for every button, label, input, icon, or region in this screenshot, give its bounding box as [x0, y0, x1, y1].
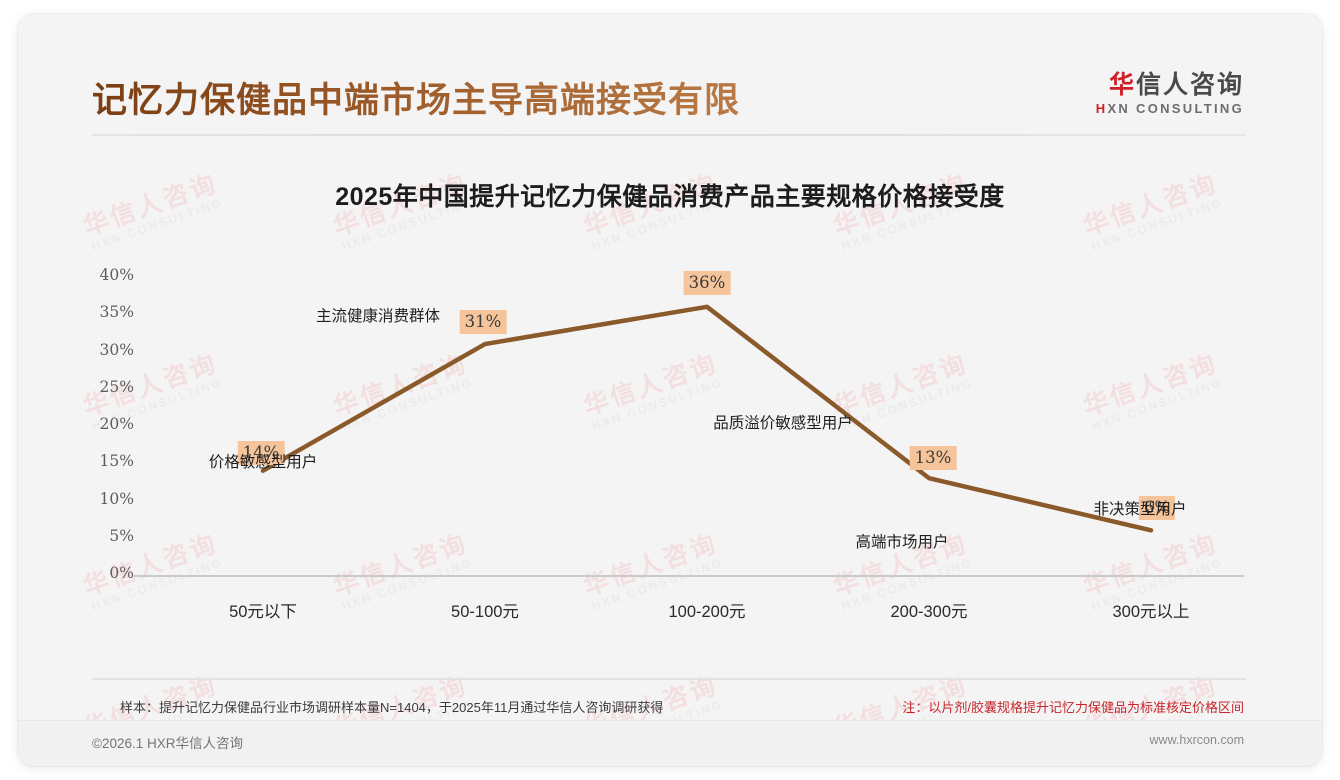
logo-chinese-rest: 信人咨询 — [1136, 71, 1244, 99]
sample-note: 样本：提升记忆力保健品行业市场调研样本量N=1404，于2025年11月通过华信… — [120, 697, 663, 716]
methodology-note: 注：以片剂/胶囊规格提升记忆力保健品为标准核定价格区间 — [902, 697, 1244, 716]
y-axis-tick-label: 15% — [76, 452, 134, 470]
x-axis-line — [134, 575, 1244, 577]
header-divider — [92, 134, 1246, 136]
point-annotation: 主流健康消费群体 — [316, 304, 440, 326]
header: 记忆力保健品中端市场主导高端接受有限 华信人咨询 HXN CONSULTING — [18, 14, 1322, 132]
y-axis-tick-label: 20% — [76, 415, 134, 433]
x-axis-tick-label: 100-200元 — [668, 598, 745, 622]
brand-logo: 华信人咨询 HXN CONSULTING — [1096, 72, 1244, 116]
page-title: 记忆力保健品中端市场主导高端接受有限 — [92, 72, 740, 123]
slide-root: 华信人咨询HXN CONSULTING华信人咨询HXN CONSULTING华信… — [0, 0, 1340, 780]
logo-english: HXN CONSULTING — [1096, 102, 1244, 116]
logo-english-rest: XN CONSULTING — [1107, 101, 1244, 116]
y-axis-tick-label: 10% — [76, 490, 134, 508]
data-point-label: 13% — [910, 446, 957, 470]
y-axis-tick-label: 30% — [76, 341, 134, 359]
point-annotation: 价格敏感型用户 — [209, 450, 318, 472]
footer-divider — [92, 678, 1246, 680]
y-axis-tick-label: 35% — [76, 303, 134, 321]
copyright-text: ©2026.1 HXR华信人咨询 — [92, 732, 243, 752]
x-axis-tick-label: 50元以下 — [229, 598, 297, 622]
logo-english-accent: H — [1096, 101, 1108, 116]
point-annotation: 非决策型用户 — [1093, 497, 1186, 519]
slide-card: 华信人咨询HXN CONSULTING华信人咨询HXN CONSULTING华信… — [18, 14, 1322, 766]
website-url[interactable]: www.hxrcon.com — [1150, 733, 1244, 747]
x-axis-tick-label: 200-300元 — [890, 598, 967, 622]
point-annotation: 高端市场用户 — [855, 530, 948, 552]
chart-title: 2025年中国提升记忆力保健品消费产品主要规格价格接受度 — [18, 177, 1322, 213]
data-point-label: 36% — [684, 271, 731, 295]
logo-chinese: 华信人咨询 — [1096, 72, 1244, 98]
y-axis-tick-label: 25% — [76, 378, 134, 396]
y-axis-tick-label: 0% — [76, 564, 134, 582]
logo-chinese-accent: 华 — [1109, 71, 1136, 99]
y-axis-tick-label: 5% — [76, 527, 134, 545]
point-annotation: 品质溢价敏感型用户 — [713, 411, 853, 433]
data-point-label: 31% — [460, 310, 507, 334]
data-line — [263, 307, 1151, 531]
x-axis-tick-label: 300元以上 — [1112, 598, 1189, 622]
x-axis-tick-label: 50-100元 — [451, 598, 519, 622]
y-axis-tick-label: 40% — [76, 266, 134, 284]
